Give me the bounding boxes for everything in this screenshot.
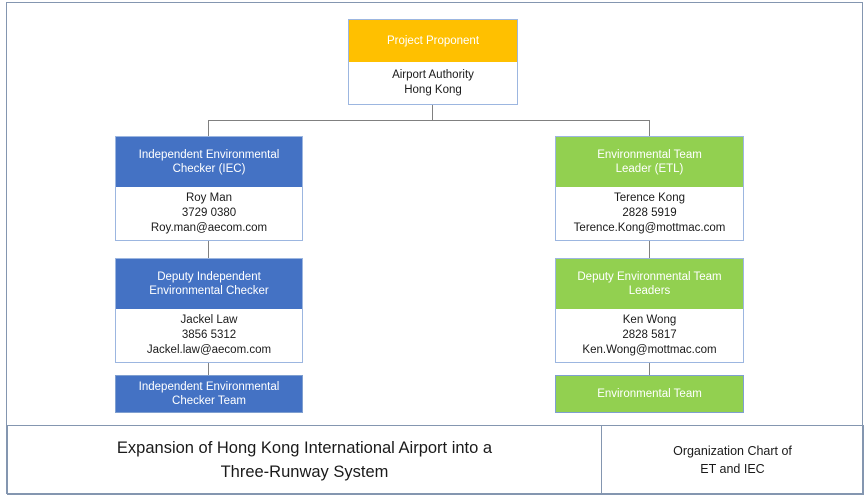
node-deputy-etl-name: Ken Wong (623, 313, 677, 328)
node-deputy-iec-name: Jackel Law (181, 313, 238, 328)
node-iec-team-role: Independent Environmental Checker Team (116, 376, 302, 412)
node-iec-phone: 3729 0380 (182, 206, 236, 221)
node-etl-contact: Terence Kong 2828 5919 Terence.Kong@mott… (556, 187, 743, 240)
title-block: Expansion of Hong Kong International Air… (7, 425, 864, 495)
connector-proponent-stem (432, 105, 433, 121)
node-deputy-iec-email: Jackel.law@aecom.com (147, 343, 271, 358)
project-title: Expansion of Hong Kong International Air… (117, 436, 492, 484)
node-et-team-role: Environmental Team (556, 376, 743, 412)
connector-etl-to-deputy (649, 241, 650, 258)
node-iec-role: Independent Environmental Checker (IEC) (116, 137, 302, 187)
node-iec-email: Roy.man@aecom.com (151, 221, 267, 236)
node-project-proponent-organisation: Airport Authority Hong Kong (349, 62, 517, 104)
title-block-chart: Organization Chart of ET and IEC (601, 425, 864, 495)
connector-deputy-to-iec-team (208, 363, 209, 375)
title-block-project: Expansion of Hong Kong International Air… (7, 425, 601, 495)
diagram-frame: Project Proponent Airport Authority Hong… (6, 2, 863, 494)
node-deputy-etl-role: Deputy Environmental Team Leaders (556, 259, 743, 309)
node-deputy-etl-phone: 2828 5817 (622, 328, 676, 343)
node-environmental-team-leader[interactable]: Environmental Team Leader (ETL) Terence … (555, 136, 744, 241)
node-deputy-iec-role: Deputy Independent Environmental Checker (116, 259, 302, 309)
node-environmental-team[interactable]: Environmental Team (555, 375, 744, 413)
node-iec-contact: Roy Man 3729 0380 Roy.man@aecom.com (116, 187, 302, 240)
node-iec-name: Roy Man (186, 191, 232, 206)
node-deputy-environmental-team-leaders[interactable]: Deputy Environmental Team Leaders Ken Wo… (555, 258, 744, 363)
connector-deputy-to-et-team (649, 363, 650, 375)
node-independent-environmental-checker[interactable]: Independent Environmental Checker (IEC) … (115, 136, 303, 241)
node-deputy-etl-contact: Ken Wong 2828 5817 Ken.Wong@mottmac.com (556, 309, 743, 362)
chart-title: Organization Chart of ET and IEC (673, 442, 792, 478)
node-deputy-iec-contact: Jackel Law 3856 5312 Jackel.law@aecom.co… (116, 309, 302, 362)
org-chart-canvas: Project Proponent Airport Authority Hong… (7, 3, 864, 423)
connector-to-iec (208, 120, 209, 136)
connector-proponent-bus (208, 120, 649, 121)
node-independent-environmental-checker-team[interactable]: Independent Environmental Checker Team (115, 375, 303, 413)
node-etl-name: Terence Kong (614, 191, 685, 206)
node-deputy-etl-email: Ken.Wong@mottmac.com (582, 343, 716, 358)
node-etl-email: Terence.Kong@mottmac.com (574, 221, 726, 236)
node-deputy-iec-phone: 3856 5312 (182, 328, 236, 343)
node-etl-phone: 2828 5919 (622, 206, 676, 221)
node-deputy-independent-environmental-checker[interactable]: Deputy Independent Environmental Checker… (115, 258, 303, 363)
connector-iec-to-deputy (208, 241, 209, 258)
node-etl-role: Environmental Team Leader (ETL) (556, 137, 743, 187)
node-project-proponent[interactable]: Project Proponent Airport Authority Hong… (348, 19, 518, 105)
node-project-proponent-role: Project Proponent (349, 20, 517, 62)
connector-to-etl (649, 120, 650, 136)
